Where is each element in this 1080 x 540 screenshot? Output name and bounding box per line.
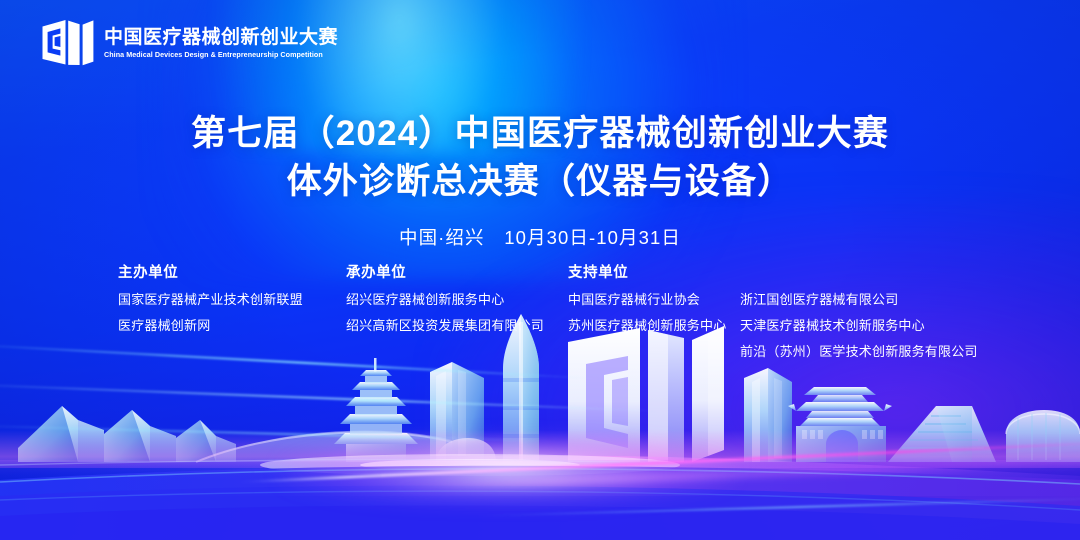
- brand-name-en: China Medical Devices Design & Entrepren…: [104, 50, 331, 60]
- title-line-2: 体外诊断总决赛（仪器与设备）: [0, 158, 1080, 206]
- brand-name-cn: 中国医疗器械创新创业大赛: [104, 27, 338, 48]
- brand-logo-lockup: 中国医疗器械创新创业大赛 China Medical Devices Desig…: [41, 18, 338, 68]
- brand-wordmark: 中国医疗器械创新创业大赛 China Medical Devices Desig…: [104, 27, 338, 60]
- supporter-heading: 支持单位: [568, 266, 996, 281]
- main-sponsor-item: 国家医疗器械产业技术创新联盟: [118, 293, 346, 306]
- organiser-item: 绍兴医疗器械创新服务中心: [346, 293, 568, 306]
- skyline-illustration: [0, 310, 1080, 540]
- main-sponsor-heading: 主办单位: [118, 266, 346, 281]
- event-location-date: 中国·绍兴 10月30日-10月31日: [0, 224, 1080, 250]
- supporter-item: 中国医疗器械行业协会: [568, 293, 740, 306]
- competition-open-book-mark-icon: [41, 18, 95, 68]
- title-block: 第七届（2024）中国医疗器械创新创业大赛 体外诊断总决赛（仪器与设备） 中国·…: [0, 110, 1080, 250]
- title-line-1: 第七届（2024）中国医疗器械创新创业大赛: [0, 110, 1080, 158]
- organiser-heading: 承办单位: [346, 266, 568, 281]
- supporter-item: 浙江国创医疗器械有限公司: [740, 293, 996, 306]
- poster-canvas: 中国医疗器械创新创业大赛 China Medical Devices Desig…: [0, 0, 1080, 540]
